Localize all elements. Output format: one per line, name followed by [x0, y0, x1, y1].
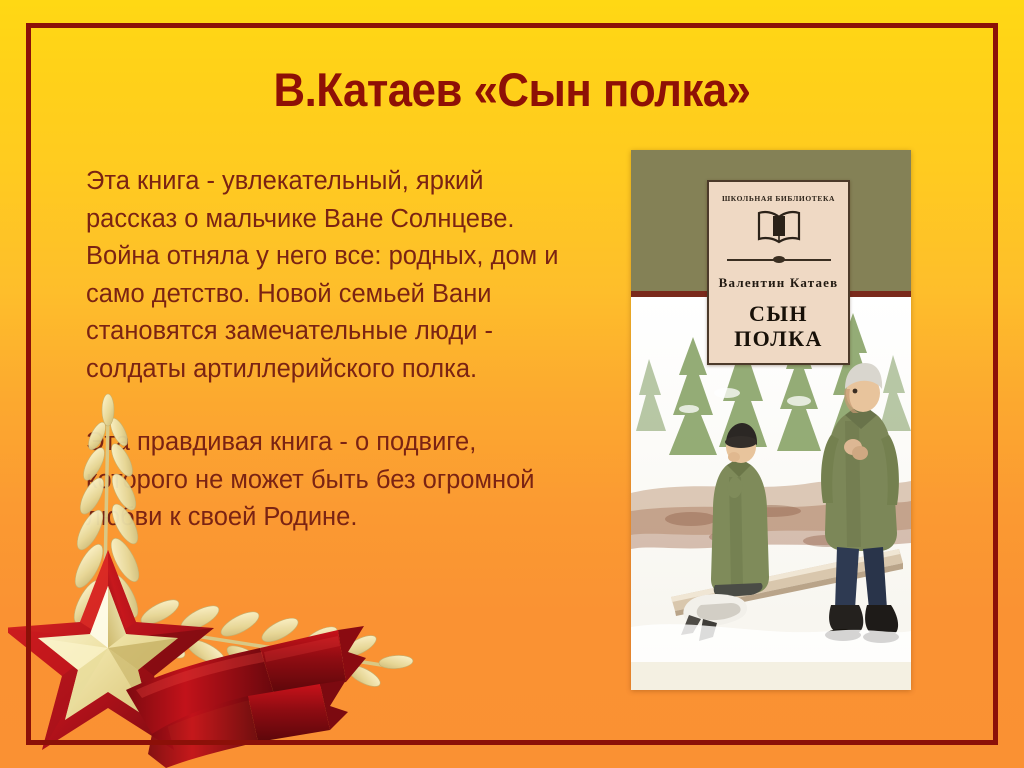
- cover-book-title: СЫН ПОЛКА: [709, 301, 848, 351]
- page-title: В.Катаев «Сын полка»: [36, 62, 988, 117]
- paragraph-1: Эта книга - увлекательный, яркий рассказ…: [86, 163, 566, 388]
- ribbon: [126, 626, 366, 768]
- cover-bottom-strip: [631, 662, 911, 690]
- star-outer-red: [8, 550, 214, 750]
- slide-canvas: В.Катаев «Сын полка» Эта книга - увлекат…: [0, 0, 1024, 768]
- laurel-branch-horizontal: [132, 595, 413, 691]
- cover-divider-ornament: [727, 256, 831, 263]
- cover-series-label: ШКОЛЬНАЯ БИБЛИОТЕКА: [709, 194, 848, 203]
- paragraph-2: Эта правдивая книга - о подвиге, которог…: [86, 424, 566, 537]
- cover-author-name: Валентин Катаев: [709, 275, 848, 291]
- star-inner-gold: [38, 586, 178, 720]
- open-book-emblem-icon: [756, 209, 802, 245]
- body-text-block: Эта книга - увлекательный, яркий рассказ…: [86, 163, 566, 537]
- book-cover-image: ШКОЛЬНАЯ БИБЛИОТЕКА Валентин Катаев СЫН …: [631, 150, 911, 690]
- cover-book-title-line-1: СЫН: [709, 301, 848, 326]
- cover-title-plate: ШКОЛЬНАЯ БИБЛИОТЕКА Валентин Катаев СЫН …: [707, 180, 850, 365]
- cover-book-title-line-2: ПОЛКА: [709, 326, 848, 351]
